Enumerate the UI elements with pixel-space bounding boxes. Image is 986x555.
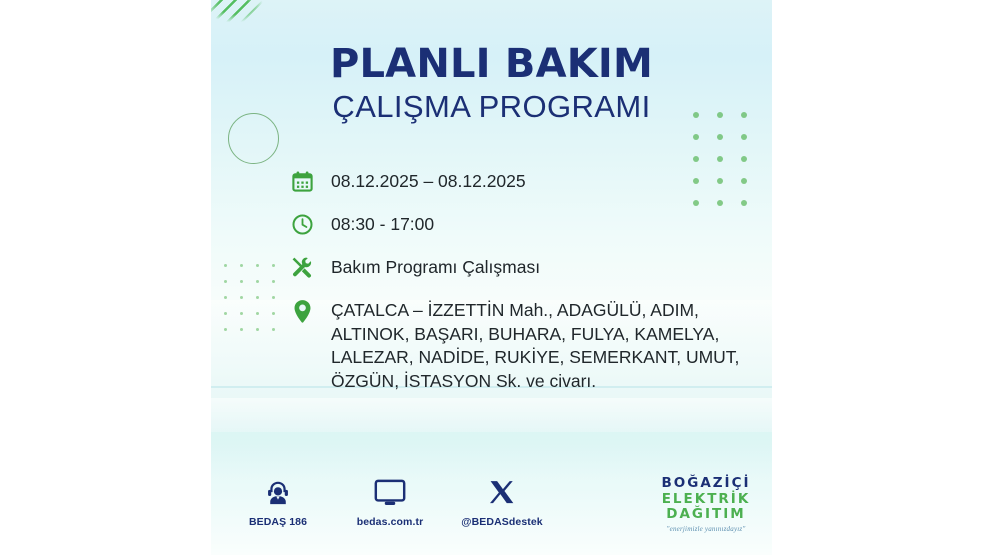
poster-frame: PLANLI BAKIM ÇALIŞMA PROGRAMI — [0, 0, 986, 555]
contact-website-label: bedas.com.tr — [347, 516, 433, 528]
location-pin-icon — [289, 297, 315, 324]
contact-phone[interactable]: BEDAŞ 186 — [235, 475, 321, 528]
poster-canvas: PLANLI BAKIM ÇALIŞMA PROGRAMI — [211, 0, 772, 555]
contact-social-label: @BEDASdestek — [459, 516, 545, 528]
page-subtitle: ÇALIŞMA PROGRAMI — [211, 91, 772, 122]
time-range-text: 08:30 - 17:00 — [331, 211, 434, 235]
background-band — [211, 398, 772, 432]
page-title: PLANLI BAKIM — [211, 44, 772, 84]
monitor-icon — [347, 475, 433, 511]
info-row-address: ÇATALCA – İZZETTİN Mah., ADAGÜLÜ, ADIM, … — [289, 297, 759, 393]
date-range-text: 08.12.2025 – 08.12.2025 — [331, 168, 526, 192]
calendar-icon — [289, 168, 315, 194]
dot-grid-decoration-left — [224, 264, 288, 344]
work-type-text: Bakım Programı Çalışması — [331, 254, 540, 278]
contact-phone-label: BEDAŞ 186 — [235, 516, 321, 528]
brand-line-dagitim: DAĞITIM — [650, 508, 762, 522]
page-title-block: PLANLI BAKIM ÇALIŞMA PROGRAMI — [211, 44, 772, 122]
brand-line-bogazici: BOĞAZİÇİ — [650, 477, 762, 491]
contact-website[interactable]: bedas.com.tr — [347, 475, 433, 528]
contact-group: BEDAŞ 186 bedas.com.tr — [235, 475, 545, 528]
brand-line-elektrik: ELEKTRİK — [650, 493, 762, 507]
address-text: ÇATALCA – İZZETTİN Mah., ADAGÜLÜ, ADIM, … — [331, 297, 739, 393]
info-list: 08.12.2025 – 08.12.2025 08:30 - 17:00 — [289, 168, 759, 393]
tools-icon — [289, 254, 315, 280]
x-twitter-icon — [459, 475, 545, 511]
info-row-time: 08:30 - 17:00 — [289, 211, 759, 237]
info-row-date: 08.12.2025 – 08.12.2025 — [289, 168, 759, 194]
footer: BEDAŞ 186 bedas.com.tr — [211, 475, 772, 547]
clock-icon — [289, 211, 315, 237]
background-band — [211, 432, 772, 478]
brand-logo: BOĞAZİÇİ ELEKTRİK DAĞITIM "enerjimizle y… — [650, 477, 762, 533]
brand-tagline: "enerjimizle yanınızdayız" — [650, 526, 762, 533]
contact-social[interactable]: @BEDASdestek — [459, 475, 545, 528]
info-row-work-type: Bakım Programı Çalışması — [289, 254, 759, 280]
headset-support-icon — [235, 475, 321, 511]
